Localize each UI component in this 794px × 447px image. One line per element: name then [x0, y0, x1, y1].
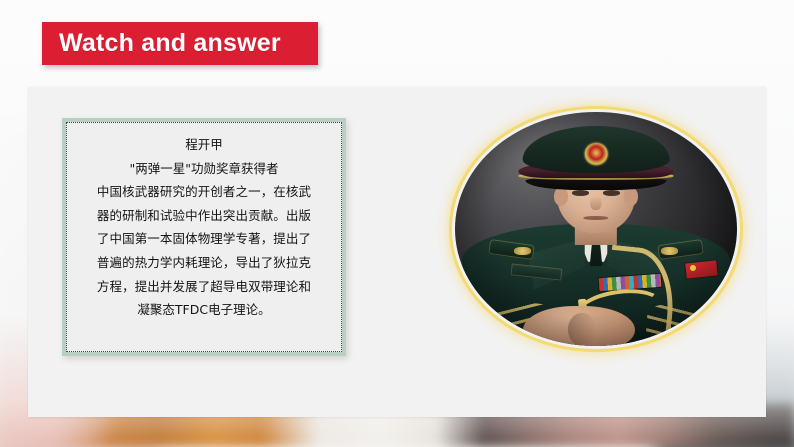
slide-canvas: Watch and answer 程开甲 "两弹一星"功勋奖章获得者 中国核武器…	[0, 0, 794, 447]
bio-line-4: 器的研制和试验中作出突出贡献。出版	[76, 204, 332, 228]
bio-line-8: 凝聚态TFDC电子理论。	[76, 298, 332, 322]
bio-line-3: 中国核武器研究的开创者之一，在核武	[76, 180, 332, 204]
bio-line-name: 程开甲	[76, 133, 332, 157]
page-title: Watch and answer	[42, 29, 281, 58]
bio-line-honor: "两弹一星"功勋奖章获得者	[76, 157, 332, 181]
photo-vignette	[455, 112, 737, 346]
bio-line-5: 了中国第一本固体物理学专著，提出了	[76, 227, 332, 251]
bio-line-6: 普遍的热力学内耗理论，导出了狄拉克	[76, 251, 332, 275]
biography-textbox: 程开甲 "两弹一星"功勋奖章获得者 中国核武器研究的开创者之一，在核武 器的研制…	[62, 118, 346, 356]
biography-textbox-inner: 程开甲 "两弹一星"功勋奖章获得者 中国核武器研究的开创者之一，在核武 器的研制…	[66, 122, 342, 352]
title-banner: Watch and answer	[42, 22, 318, 65]
portrait-frame	[446, 104, 746, 354]
portrait-photo	[455, 112, 737, 346]
bio-line-7: 方程，提出并发展了超导电双带理论和	[76, 275, 332, 299]
